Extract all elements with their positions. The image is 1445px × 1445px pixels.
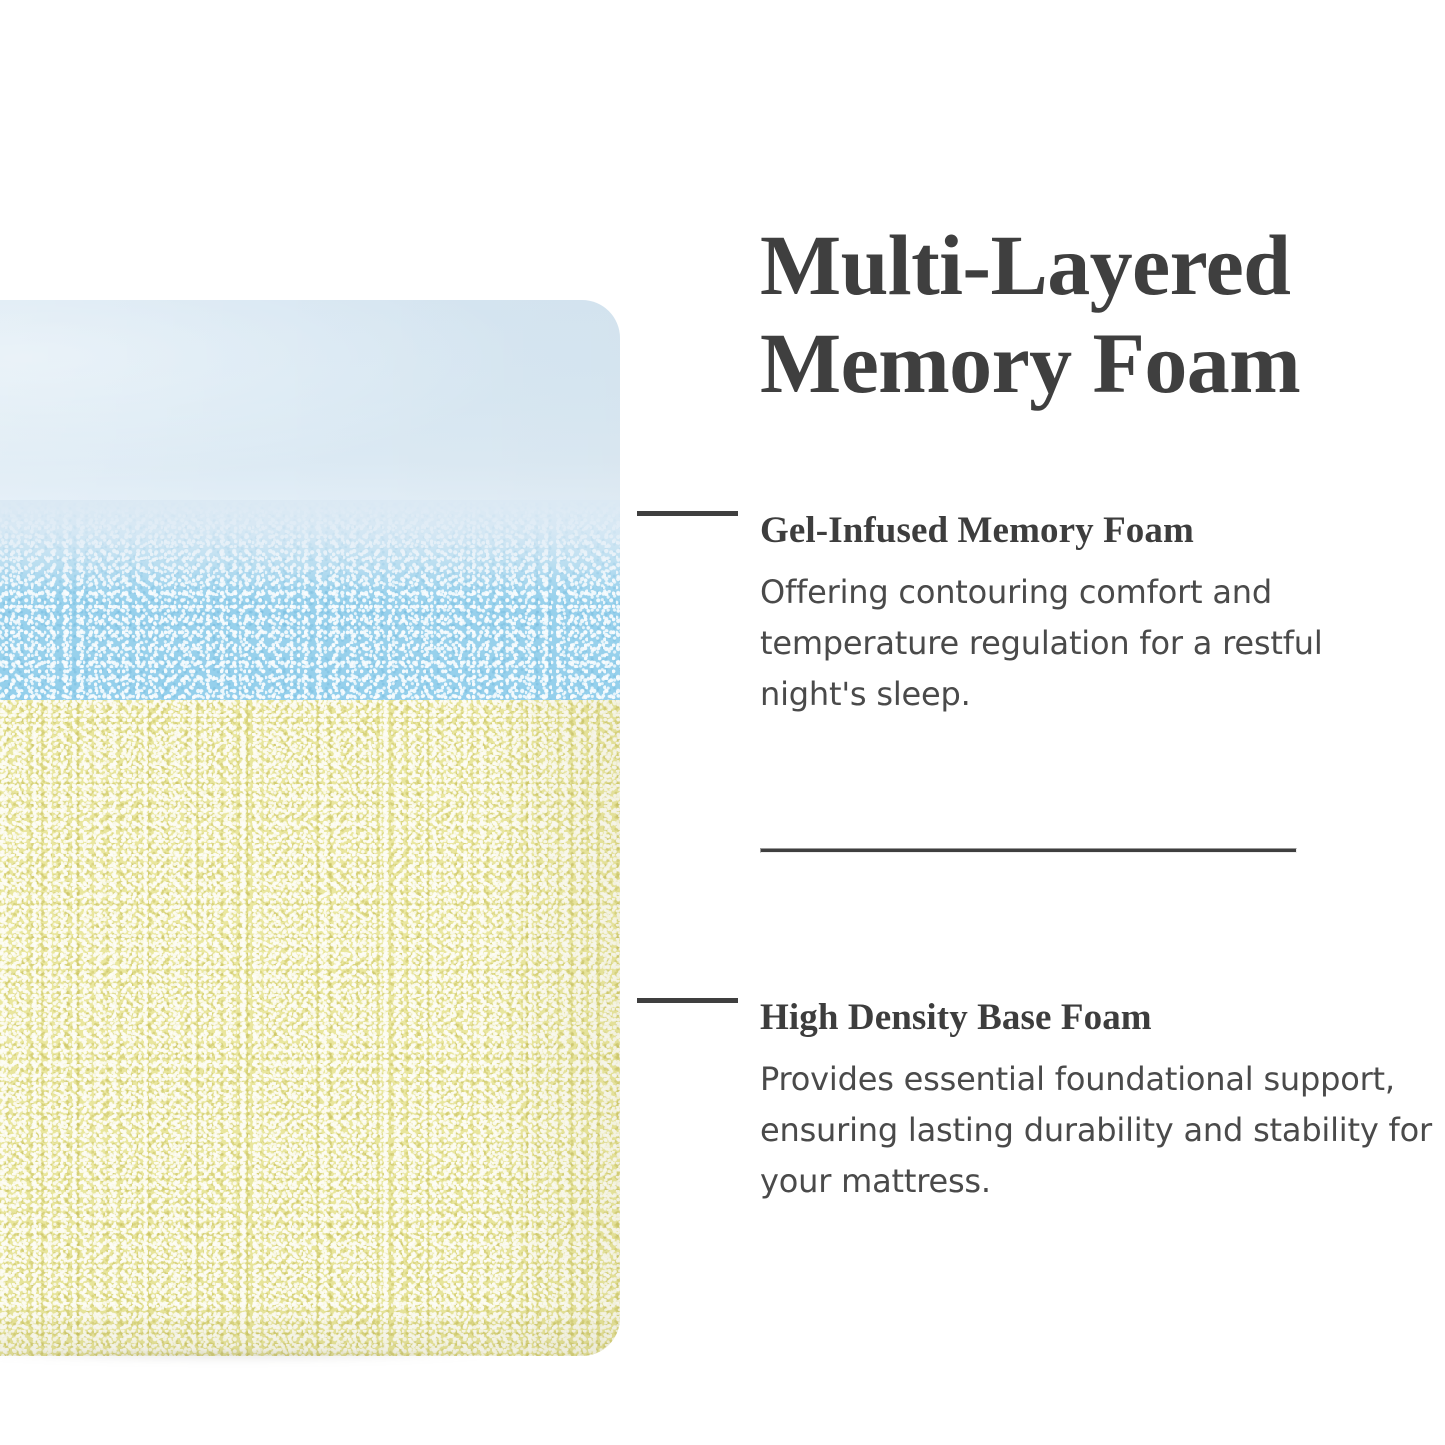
foam-block: [0, 300, 620, 1356]
feature-description-gel-infused: Offering contouring comfort and temperat…: [760, 567, 1432, 720]
feature-high-density-base-foam: High Density Base Foam Provides essentia…: [637, 964, 1445, 1016]
feature-title-high-density-base: High Density Base Foam: [760, 995, 1152, 1041]
feature-title-gel-infused: Gel-Infused Memory Foam: [760, 508, 1194, 554]
foam-layer-top-surface: [0, 300, 620, 532]
foam-edge-shading: [0, 700, 620, 1356]
foam-layer-gel-infused: [0, 500, 620, 706]
page-title: Multi-Layered Memory Foam: [760, 216, 1400, 412]
section-divider: [760, 848, 1297, 853]
foam-layer-high-density-base: [0, 700, 620, 1356]
foam-texture-gel-fade: [0, 500, 620, 596]
dash-leader-icon: [637, 998, 738, 1003]
dash-leader-icon: [637, 511, 738, 516]
foam-block-shadow: [0, 1352, 580, 1368]
feature-description-high-density-base: Provides essential foundational support,…: [760, 1054, 1445, 1207]
info-panel: Multi-Layered Memory Foam Gel-Infused Me…: [637, 0, 1445, 1445]
product-image: [0, 0, 640, 1445]
feature-gel-infused-memory-foam: Gel-Infused Memory Foam Offering contour…: [637, 477, 1445, 529]
feature-heading-row: High Density Base Foam: [637, 964, 1445, 1016]
feature-heading-row: Gel-Infused Memory Foam: [637, 477, 1445, 529]
